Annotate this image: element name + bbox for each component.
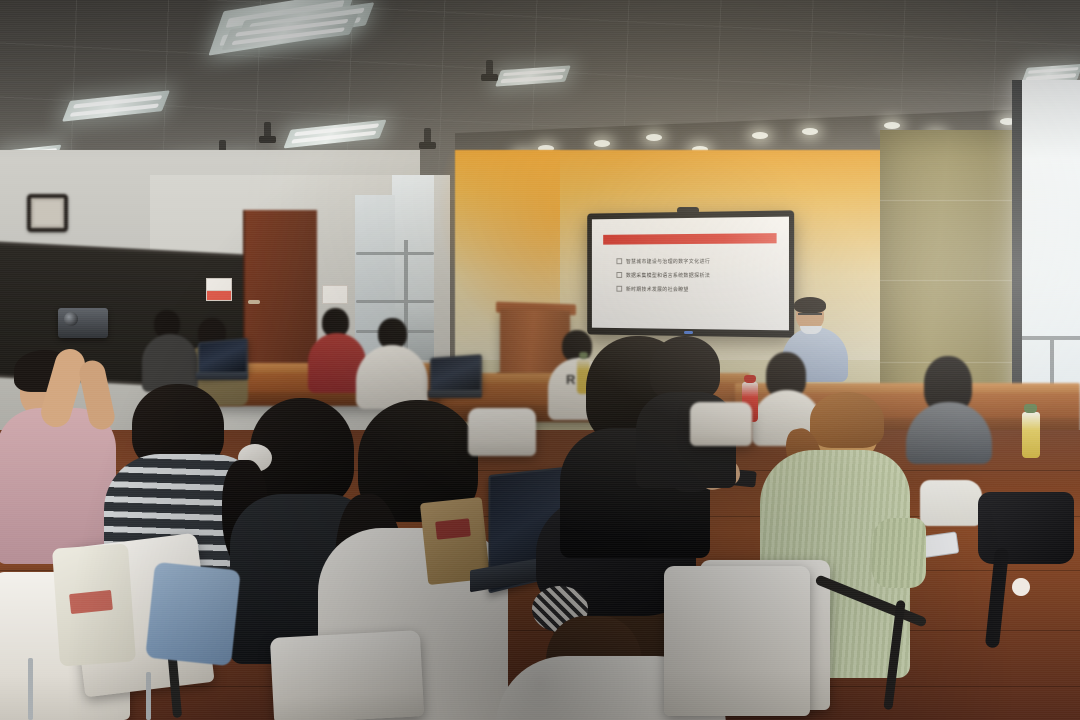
attendee-white-shirt [356, 318, 428, 404]
corridor-rail [356, 300, 434, 303]
wall-display[interactable]: 智慧城市建设与治理的数字文化进行 数据采集模型和语言系统数据探析法 新时期技术发… [587, 210, 794, 337]
tea-bottle [1022, 412, 1040, 458]
attendee-dark-mid [142, 310, 198, 386]
presenter-glasses-icon [798, 313, 822, 319]
slide-bullet-text: 智慧城市建设与治理的数字文化进行 [626, 258, 710, 265]
camera[interactable] [58, 308, 108, 338]
slide-bullet-text: 数据采集模型和语言系统数据探析法 [626, 272, 710, 279]
white-seminar-chair[interactable] [270, 630, 424, 720]
presenter-hair [794, 297, 826, 313]
red-label-bottle-cap [744, 375, 756, 383]
display-power-led [684, 331, 693, 334]
chair-leg [28, 658, 33, 720]
wall-clock [27, 194, 68, 232]
recessed-downlight [802, 128, 818, 135]
denim-jacket [145, 562, 241, 666]
bullet-marker-icon [616, 286, 622, 292]
paper-notice [322, 285, 348, 304]
recessed-downlight [752, 132, 768, 139]
slide-bullet-list: 智慧城市建设与治理的数字文化进行 数据采集模型和语言系统数据探析法 新时期技术发… [616, 258, 776, 301]
bullet-marker-icon [616, 259, 622, 265]
paper-bag-logo [435, 518, 471, 539]
chair-leg [146, 672, 151, 720]
white-seminar-chair[interactable] [468, 408, 536, 456]
white-seminar-chair[interactable] [664, 566, 810, 716]
bullet-marker-icon [616, 272, 622, 278]
recessed-downlight [884, 122, 900, 129]
door-handle[interactable] [248, 300, 260, 304]
attendee-hair [650, 336, 720, 400]
ceiling-speaker-mount [424, 128, 431, 144]
seminar-room-photo: 智慧城市建设与治理的数字文化进行 数据采集模型和语言系统数据探析法 新时期技术发… [0, 0, 1080, 720]
recessed-downlight [646, 134, 662, 141]
display-screen: 智慧城市建设与治理的数字文化进行 数据采集模型和语言系统数据探析法 新时期技术发… [592, 217, 789, 331]
slide-bullet-item: 数据采集模型和语言系统数据探析法 [616, 272, 776, 279]
bag-charm [1012, 578, 1030, 596]
white-seminar-chair[interactable] [690, 402, 752, 446]
ceiling-speaker-mount [264, 122, 271, 138]
tea-bottle-cap [1024, 404, 1037, 413]
slide-bullet-item: 智慧城市建设与治理的数字文化进行 [616, 258, 776, 266]
attendee-hair [810, 392, 884, 448]
slide-accent-bar [603, 233, 776, 245]
red-notice-sign [206, 290, 232, 301]
white-plastic-bag [920, 480, 982, 526]
slide-bullet-text: 新时期技术发展的社会瞭望 [626, 286, 689, 293]
laptop-keyboard[interactable] [196, 372, 248, 380]
attendee-torso [0, 408, 116, 564]
black-backpack [978, 492, 1074, 564]
ceiling-speaker-mount [486, 60, 493, 76]
attendee-arm [872, 518, 926, 588]
corridor-rail [356, 252, 434, 255]
slide-bullet-item: 新时期技术发展的社会瞭望 [616, 286, 776, 294]
classroom-door[interactable] [243, 210, 317, 370]
clock-face [34, 201, 61, 225]
recessed-downlight [594, 140, 610, 147]
laptop-keyboard[interactable] [428, 390, 482, 398]
